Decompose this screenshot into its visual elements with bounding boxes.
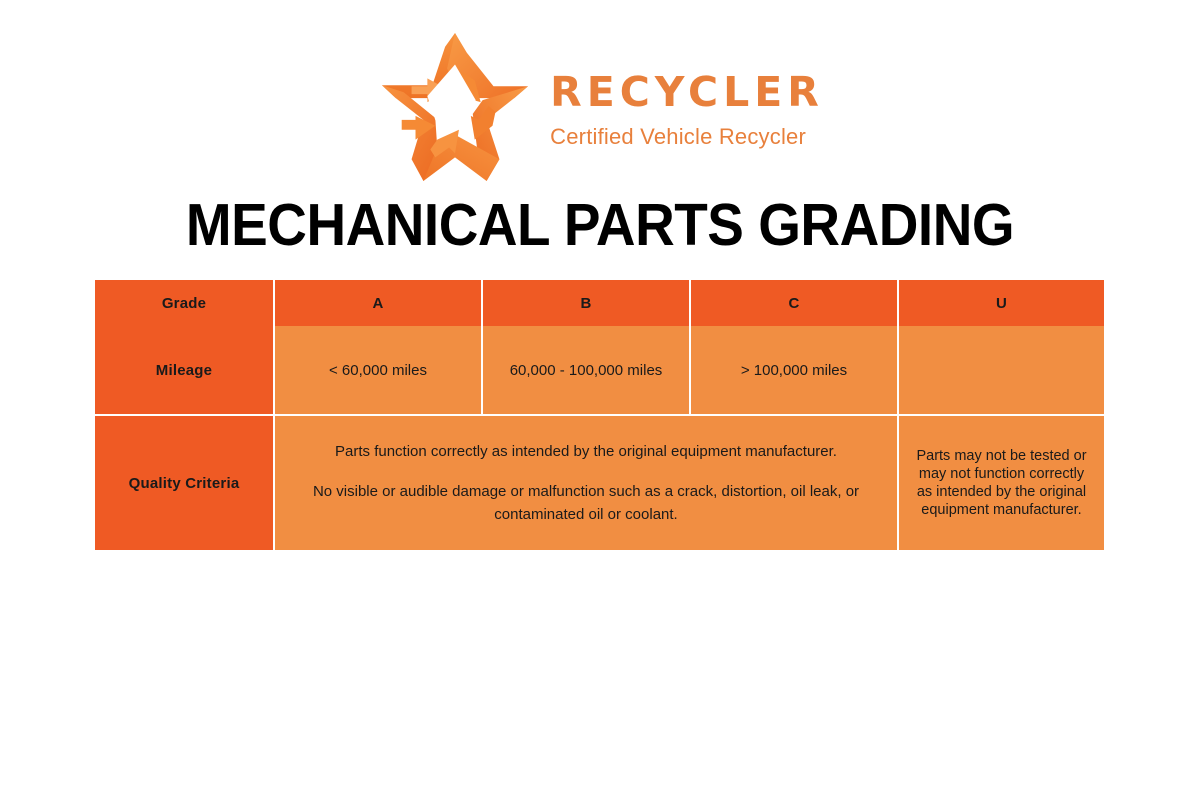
brand-logo-block: RECYCLER Certified Vehicle Recycler [0, 28, 1200, 186]
logo-tagline: Certified Vehicle Recycler [550, 126, 824, 148]
column-header-c: C [691, 280, 899, 326]
recycling-star-logo-icon [376, 31, 534, 183]
table-row-mileage: Mileage < 60,000 miles 60,000 - 100,000 … [95, 326, 1104, 416]
mileage-grade-b: 60,000 - 100,000 miles [483, 326, 691, 416]
mileage-grade-a: < 60,000 miles [275, 326, 483, 416]
mileage-grade-u [899, 326, 1104, 416]
logo-text-group: RECYCLER Certified Vehicle Recycler [550, 66, 824, 148]
row-header-quality-criteria: Quality Criteria [95, 416, 275, 550]
page-title: MECHANICAL PARTS GRADING [42, 196, 1158, 255]
mechanical-parts-grading-table: Grade A B C U Mileage < 60,000 miles 60,… [95, 280, 1104, 550]
table-row-quality-criteria: Quality Criteria Parts function correctl… [95, 416, 1104, 550]
column-header-b: B [483, 280, 691, 326]
table-header-row: Grade A B C U [95, 280, 1104, 326]
column-header-a: A [275, 280, 483, 326]
quality-criteria-paragraph-2: No visible or audible damage or malfunct… [297, 480, 875, 527]
column-header-grade: Grade [95, 280, 275, 326]
quality-criteria-grade-u: Parts may not be tested or may not funct… [899, 416, 1104, 550]
row-header-mileage: Mileage [95, 326, 275, 416]
quality-criteria-grades-abc: Parts function correctly as intended by … [275, 416, 899, 550]
column-header-u: U [899, 280, 1104, 326]
logo-wordmark: RECYCLER [550, 72, 824, 113]
mileage-grade-c: > 100,000 miles [691, 326, 899, 416]
quality-criteria-paragraph-1: Parts function correctly as intended by … [297, 440, 875, 463]
